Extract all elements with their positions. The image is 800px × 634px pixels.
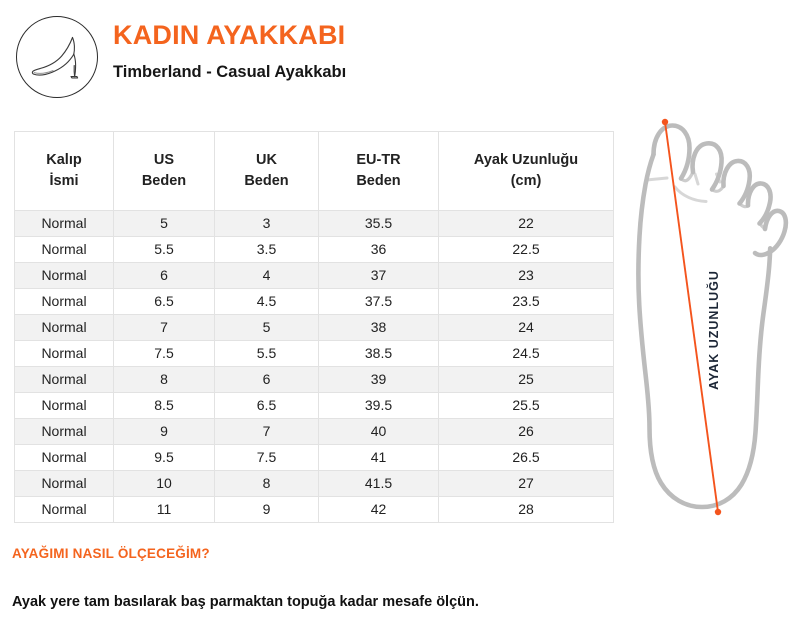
- cell-us-beden: 8.5: [114, 393, 215, 419]
- cell-eu-tr-beden: 37.5: [319, 289, 439, 315]
- cell-kalip-ismi: Normal: [15, 367, 114, 393]
- column-header-line1: Kalıp: [46, 152, 81, 168]
- cell-uk-beden: 7.5: [215, 445, 319, 471]
- cell-us-beden: 11: [114, 497, 215, 523]
- cell-kalip-ismi: Normal: [15, 393, 114, 419]
- cell-kalip-ismi: Normal: [15, 419, 114, 445]
- cell-uk-beden: 5.5: [215, 341, 319, 367]
- cell-ayak-uzunlugu: 25.5: [439, 393, 614, 419]
- cell-ayak-uzunlugu: 25: [439, 367, 614, 393]
- column-header-line1: EU-TR: [356, 152, 400, 168]
- cell-uk-beden: 4.5: [215, 289, 319, 315]
- cell-ayak-uzunlugu: 27: [439, 471, 614, 497]
- high-heel-shoe-icon: [26, 31, 88, 83]
- cell-us-beden: 7.5: [114, 341, 215, 367]
- cell-kalip-ismi: Normal: [15, 497, 114, 523]
- size-chart-table-container: Kalıp İsmi US Beden UK Beden EU-TR Beden…: [14, 131, 613, 523]
- table-row: Normal5.53.53622.5: [15, 237, 614, 263]
- column-header-line1: US: [154, 152, 174, 168]
- cell-us-beden: 8: [114, 367, 215, 393]
- column-header-line2: Beden: [321, 171, 436, 192]
- column-header-eu-tr-beden: EU-TR Beden: [319, 132, 439, 211]
- column-header-line2: İsmi: [17, 171, 111, 192]
- cell-ayak-uzunlugu: 24.5: [439, 341, 614, 367]
- cell-ayak-uzunlugu: 22: [439, 211, 614, 237]
- cell-eu-tr-beden: 37: [319, 263, 439, 289]
- cell-kalip-ismi: Normal: [15, 445, 114, 471]
- cell-uk-beden: 3: [215, 211, 319, 237]
- cell-ayak-uzunlugu: 22.5: [439, 237, 614, 263]
- cell-uk-beden: 8: [215, 471, 319, 497]
- cell-us-beden: 6.5: [114, 289, 215, 315]
- cell-kalip-ismi: Normal: [15, 315, 114, 341]
- cell-eu-tr-beden: 38.5: [319, 341, 439, 367]
- page-title: KADIN AYAKKABI: [113, 18, 346, 52]
- cell-kalip-ismi: Normal: [15, 341, 114, 367]
- cell-eu-tr-beden: 40: [319, 419, 439, 445]
- column-header-line1: UK: [256, 152, 277, 168]
- cell-eu-tr-beden: 38: [319, 315, 439, 341]
- cell-eu-tr-beden: 41.5: [319, 471, 439, 497]
- cell-uk-beden: 3.5: [215, 237, 319, 263]
- cell-uk-beden: 9: [215, 497, 319, 523]
- column-header-uk-beden: UK Beden: [215, 132, 319, 211]
- cell-uk-beden: 6.5: [215, 393, 319, 419]
- cell-ayak-uzunlugu: 26.5: [439, 445, 614, 471]
- table-row: Normal10841.527: [15, 471, 614, 497]
- table-row: Normal9.57.54126.5: [15, 445, 614, 471]
- cell-us-beden: 10: [114, 471, 215, 497]
- cell-eu-tr-beden: 39.5: [319, 393, 439, 419]
- cell-uk-beden: 5: [215, 315, 319, 341]
- table-row: Normal7.55.538.524.5: [15, 341, 614, 367]
- table-row: Normal974026: [15, 419, 614, 445]
- foot-measure-label-text: AYAK UZUNLUĞU: [707, 270, 721, 390]
- table-row: Normal863925: [15, 367, 614, 393]
- cell-uk-beden: 7: [215, 419, 319, 445]
- table-row: Normal643723: [15, 263, 614, 289]
- howto-measure-text: Ayak yere tam basılarak baş parmaktan to…: [12, 594, 479, 610]
- cell-uk-beden: 4: [215, 263, 319, 289]
- page-header: KADIN AYAKKABI Timberland - Casual Ayakk…: [0, 0, 800, 110]
- table-row: Normal6.54.537.523.5: [15, 289, 614, 315]
- cell-kalip-ismi: Normal: [15, 471, 114, 497]
- table-row: Normal8.56.539.525.5: [15, 393, 614, 419]
- howto-measure-heading: AYAĞIMI NASIL ÖLÇECEĞİM?: [12, 546, 210, 561]
- cell-eu-tr-beden: 36: [319, 237, 439, 263]
- cell-eu-tr-beden: 42: [319, 497, 439, 523]
- cell-us-beden: 9.5: [114, 445, 215, 471]
- table-row: Normal753824: [15, 315, 614, 341]
- table-header-row: Kalıp İsmi US Beden UK Beden EU-TR Beden…: [15, 132, 614, 211]
- table-row: Normal1194228: [15, 497, 614, 523]
- cell-ayak-uzunlugu: 23: [439, 263, 614, 289]
- cell-ayak-uzunlugu: 24: [439, 315, 614, 341]
- column-header-line1: Ayak Uzunluğu: [474, 152, 578, 168]
- page-subtitle: Timberland - Casual Ayakkabı: [113, 61, 346, 83]
- column-header-line2: (cm): [441, 171, 611, 192]
- title-block: KADIN AYAKKABI Timberland - Casual Ayakk…: [113, 18, 346, 83]
- cell-ayak-uzunlugu: 23.5: [439, 289, 614, 315]
- cell-eu-tr-beden: 41: [319, 445, 439, 471]
- table-row: Normal5335.522: [15, 211, 614, 237]
- table-body: Normal5335.522Normal5.53.53622.5Normal64…: [15, 211, 614, 523]
- cell-eu-tr-beden: 35.5: [319, 211, 439, 237]
- cell-kalip-ismi: Normal: [15, 289, 114, 315]
- table-header: Kalıp İsmi US Beden UK Beden EU-TR Beden…: [15, 132, 614, 211]
- brand-logo-badge: [16, 16, 98, 98]
- column-header-line2: Beden: [217, 171, 316, 192]
- cell-us-beden: 7: [114, 315, 215, 341]
- cell-us-beden: 5: [114, 211, 215, 237]
- cell-us-beden: 6: [114, 263, 215, 289]
- size-chart-table: Kalıp İsmi US Beden UK Beden EU-TR Beden…: [14, 131, 614, 523]
- cell-eu-tr-beden: 39: [319, 367, 439, 393]
- cell-kalip-ismi: Normal: [15, 211, 114, 237]
- cell-us-beden: 5.5: [114, 237, 215, 263]
- cell-ayak-uzunlugu: 28: [439, 497, 614, 523]
- cell-kalip-ismi: Normal: [15, 263, 114, 289]
- cell-ayak-uzunlugu: 26: [439, 419, 614, 445]
- cell-kalip-ismi: Normal: [15, 237, 114, 263]
- cell-us-beden: 9: [114, 419, 215, 445]
- column-header-us-beden: US Beden: [114, 132, 215, 211]
- foot-measure-label: AYAK UZUNLUĞU: [700, 245, 728, 415]
- cell-uk-beden: 6: [215, 367, 319, 393]
- column-header-line2: Beden: [116, 171, 212, 192]
- column-header-kalip-ismi: Kalıp İsmi: [15, 132, 114, 211]
- column-header-ayak-uzunlugu: Ayak Uzunluğu (cm): [439, 132, 614, 211]
